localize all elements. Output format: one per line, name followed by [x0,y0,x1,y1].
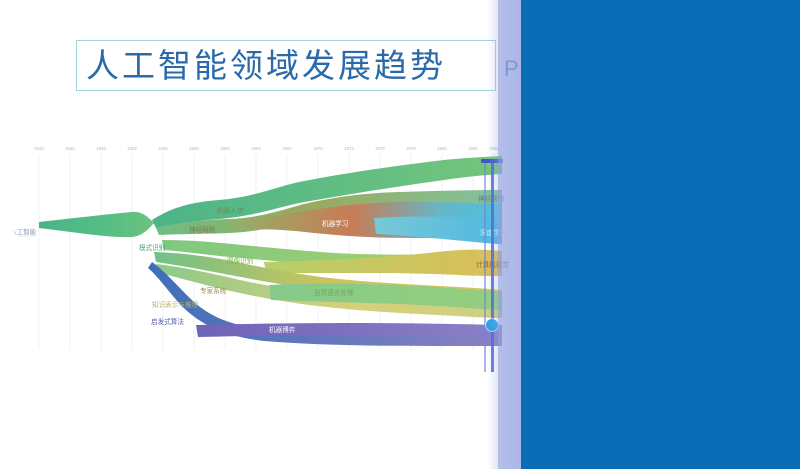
timeline-cursor-line[interactable] [491,160,494,372]
info-panel: 1987 自我学习双陆棋程序 Gerry Tesauro Tesauro G. … [521,0,800,469]
svg-text:1985: 1985 [468,146,478,151]
flow-label-es: 专家系统 [200,286,227,295]
svg-text:1982: 1982 [437,146,447,151]
svg-text:1988: 1988 [489,146,499,151]
svg-text:1973: 1973 [344,146,354,151]
svg-text:1967: 1967 [282,146,292,151]
cursor-guide-line [484,160,486,372]
flow-ai-trunk [39,212,154,237]
flow-label-robotics: 机器人学 [217,206,244,215]
flow-label-img: 图像识别 [227,256,254,265]
timeline-cursor-cap[interactable] [481,159,503,163]
chart-year-axis: 1943 1946 1949 1952 1955 1958 1963 1964 … [34,146,499,151]
flow-label-heuristic: 启发式算法 [151,317,184,326]
svg-text:1963: 1963 [220,146,230,151]
flow-label-kr: 知识表示与推理 [152,300,199,309]
svg-text:1943: 1943 [34,146,44,151]
flow-label-game: 机器博弈 [269,325,296,334]
svg-text:1952: 1952 [127,146,137,151]
slide-screenshot: 人工智能领域发展趋势 P [0,0,800,469]
svg-text:1976: 1976 [375,146,385,151]
chart-root-label: 人工智能 [14,227,37,236]
svg-text:1970: 1970 [313,146,323,151]
svg-text:1955: 1955 [158,146,168,151]
page-title: 人工智能领域发展趋势 [86,45,486,87]
svg-text:1949: 1949 [96,146,106,151]
ai-trend-stream-chart: 1943 1946 1949 1952 1955 1958 1963 1964 … [14,140,514,375]
flow-label-ml: 机器学习 [322,219,348,228]
flow-label-nlp: 自然语言处理 [314,288,354,297]
flow-label-nn: 神经网络 [189,225,216,234]
flow-label-pattern: 模式识别 [139,243,166,252]
timeline-cursor-handle[interactable] [486,319,498,331]
flow-machine-gaming [196,323,502,337]
presentation-slide: 人工智能领域发展趋势 P [0,0,521,469]
svg-text:1964: 1964 [251,146,261,151]
svg-text:1979: 1979 [406,146,416,151]
title-trailing-letter: P [504,56,519,82]
svg-text:1946: 1946 [65,146,75,151]
svg-text:1958: 1958 [189,146,199,151]
